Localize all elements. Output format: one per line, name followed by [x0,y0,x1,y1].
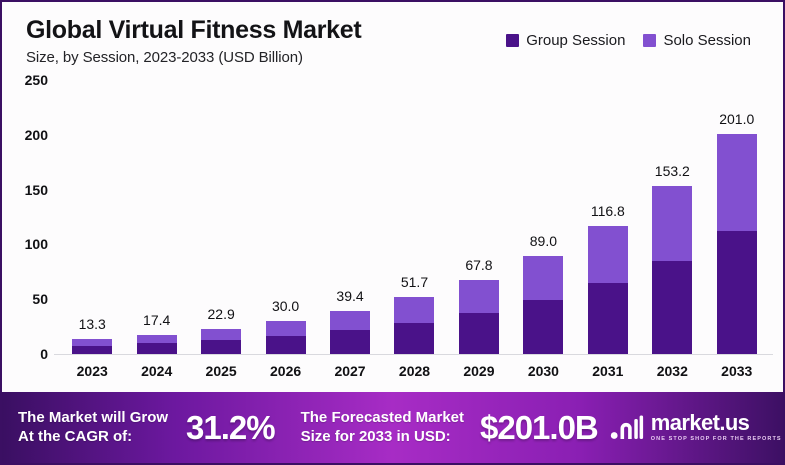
chart-card: Global Virtual Fitness Market Size, by S… [0,0,785,465]
bar-group-2027[interactable]: 39.4 [318,80,382,354]
bar-value-label-2028: 51.7 [382,274,446,290]
bar-value-label-2023: 13.3 [60,316,124,332]
bar-segment-solo-2026[interactable] [266,321,306,336]
x-axis-tick-2026: 2026 [253,363,317,379]
x-axis-tick-2029: 2029 [447,363,511,379]
bar-stack-2031 [588,226,628,354]
bar-segment-group-2033[interactable] [717,231,757,354]
footer-cagr-value: 31.2% [186,409,275,447]
bar-group-2032[interactable]: 153.2 [640,80,704,354]
bar-value-label-2030: 89.0 [511,233,575,249]
x-axis-tick-2028: 2028 [382,363,446,379]
footer-banner: The Market will Grow At the CAGR of: 31.… [2,392,783,463]
bar-segment-solo-2028[interactable] [394,297,434,323]
bar-group-2029[interactable]: 67.8 [447,80,511,354]
x-axis-tick-2030: 2030 [511,363,575,379]
bar-segment-group-2024[interactable] [137,343,177,354]
bar-stack-2030 [523,256,563,354]
footer-forecast-label-line2: Size for 2033 in USD: [301,428,464,447]
bar-group-2025[interactable]: 22.9 [189,80,253,354]
bar-value-label-2033: 201.0 [705,111,769,127]
chart-plot-area: 050100150200250 13.317.422.930.039.451.7… [2,80,783,390]
bar-group-2033[interactable]: 201.0 [705,80,769,354]
bar-segment-solo-2030[interactable] [523,256,563,300]
legend-item-solo-session[interactable]: Solo Session [643,32,751,49]
bar-stack-2026 [266,321,306,354]
bar-group-2026[interactable]: 30.0 [253,80,317,354]
bar-group-2024[interactable]: 17.4 [124,80,188,354]
bar-stack-2023 [72,339,112,354]
y-axis-tick-50: 50 [32,291,48,307]
bar-series-container: 13.317.422.930.039.451.767.889.0116.8153… [60,80,769,354]
x-axis-tick-2031: 2031 [576,363,640,379]
bar-group-2023[interactable]: 13.3 [60,80,124,354]
y-axis-tick-100: 100 [25,236,48,252]
x-axis-tick-2032: 2032 [640,363,704,379]
x-axis-tick-2027: 2027 [318,363,382,379]
bar-segment-group-2025[interactable] [201,340,241,354]
bar-segment-group-2031[interactable] [588,283,628,354]
bar-segment-solo-2029[interactable] [459,280,499,313]
bar-stack-2029 [459,280,499,354]
bar-segment-solo-2033[interactable] [717,134,757,231]
legend-item-group-session[interactable]: Group Session [506,32,625,49]
bar-segment-group-2032[interactable] [652,261,692,354]
y-axis-tick-0: 0 [40,346,48,362]
bar-stack-2032 [652,186,692,354]
bar-segment-solo-2032[interactable] [652,186,692,261]
bar-stack-2025 [201,329,241,354]
chart-legend: Group Session Solo Session [506,32,751,49]
x-axis-tick-2025: 2025 [189,363,253,379]
bar-segment-group-2027[interactable] [330,330,370,354]
bar-segment-solo-2031[interactable] [588,226,628,283]
footer-forecast-label-line1: The Forecasted Market [301,409,464,428]
legend-swatch-solo-session [643,34,656,47]
bar-group-2028[interactable]: 51.7 [382,80,446,354]
legend-swatch-group-session [506,34,519,47]
bar-segment-group-2026[interactable] [266,336,306,354]
footer-cagr-label: The Market will Grow At the CAGR of: [18,409,168,447]
bar-segment-solo-2027[interactable] [330,311,370,330]
bar-value-label-2029: 67.8 [447,257,511,273]
x-axis: 2023202420252026202720282029203020312032… [60,358,769,384]
bar-segment-group-2029[interactable] [459,313,499,354]
x-axis-tick-2024: 2024 [124,363,188,379]
footer-forecast-value: $201.0B [480,409,598,447]
legend-label-group-session: Group Session [526,32,625,49]
bar-value-label-2032: 153.2 [640,163,704,179]
x-axis-tick-2033: 2033 [705,363,769,379]
bar-value-label-2024: 17.4 [124,312,188,328]
bar-value-label-2031: 116.8 [576,203,640,219]
bar-stack-2024 [137,335,177,354]
market-us-logo[interactable]: market.us ONE STOP SHOP FOR THE REPORTS [610,412,782,443]
chart-header: Global Virtual Fitness Market Size, by S… [2,2,783,80]
bar-chart-logo-icon [610,415,644,441]
bar-group-2031[interactable]: 116.8 [576,80,640,354]
logo-text-block: market.us ONE STOP SHOP FOR THE REPORTS [651,412,782,443]
bar-segment-solo-2025[interactable] [201,329,241,340]
bar-stack-2027 [330,311,370,354]
logo-wordmark: market.us [651,412,782,434]
y-axis: 050100150200250 [2,80,54,352]
bar-value-label-2025: 22.9 [189,306,253,322]
bar-group-2030[interactable]: 89.0 [511,80,575,354]
footer-cagr-label-line2: At the CAGR of: [18,428,168,447]
bar-segment-solo-2024[interactable] [137,335,177,344]
bar-value-label-2026: 30.0 [253,298,317,314]
y-axis-tick-200: 200 [25,127,48,143]
bar-value-label-2027: 39.4 [318,288,382,304]
y-axis-tick-150: 150 [25,182,48,198]
footer-forecast-label: The Forecasted Market Size for 2033 in U… [301,409,464,447]
chart-title: Global Virtual Fitness Market [26,16,361,45]
chart-subtitle: Size, by Session, 2023-2033 (USD Billion… [26,49,303,66]
bar-segment-group-2030[interactable] [523,300,563,354]
bar-segment-group-2023[interactable] [72,346,112,354]
x-axis-line [54,354,773,355]
legend-label-solo-session: Solo Session [663,32,751,49]
bar-stack-2033 [717,134,757,354]
logo-tagline: ONE STOP SHOP FOR THE REPORTS [651,437,782,443]
y-axis-tick-250: 250 [25,72,48,88]
x-axis-tick-2023: 2023 [60,363,124,379]
footer-cagr-label-line1: The Market will Grow [18,409,168,428]
bar-segment-group-2028[interactable] [394,323,434,354]
bar-stack-2028 [394,297,434,354]
